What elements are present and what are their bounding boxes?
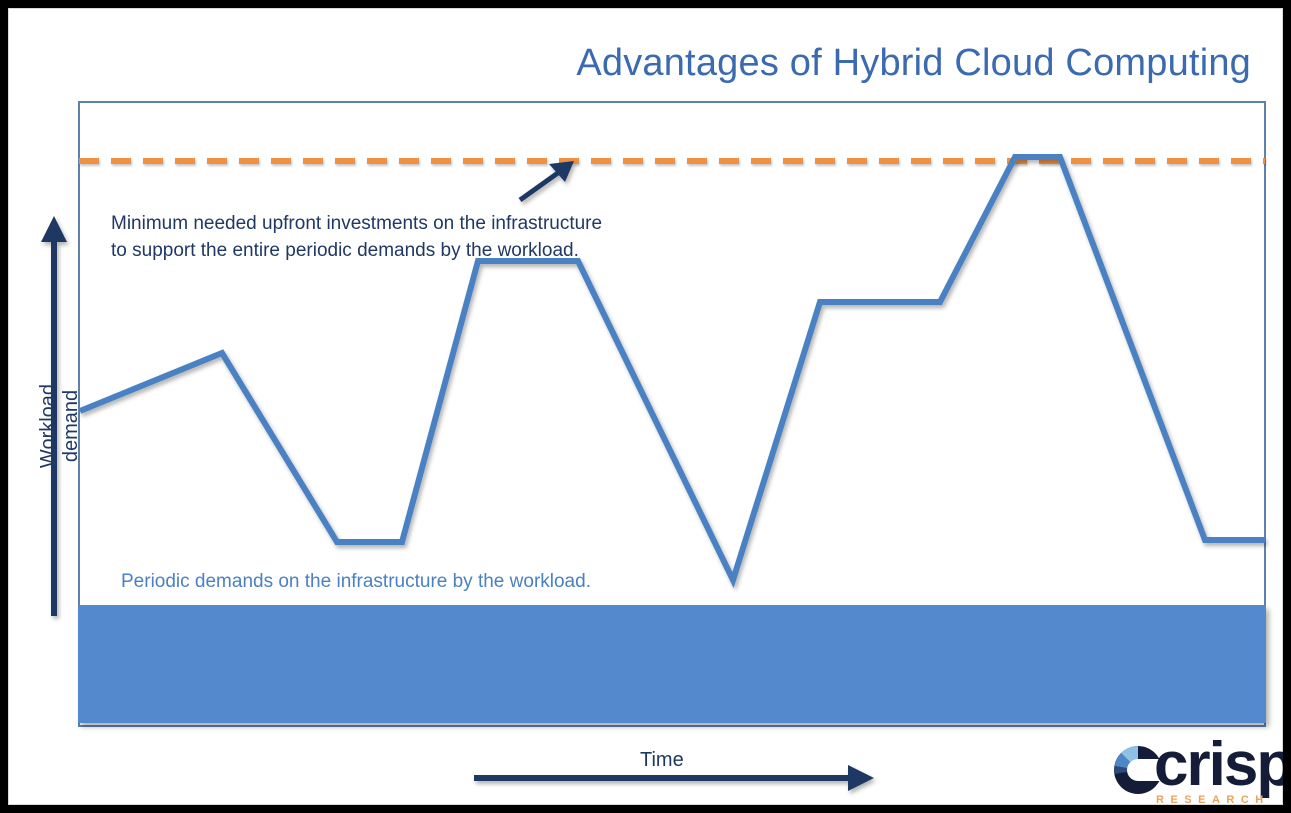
basic-need-band: Basic need for the infrastructure to sup… xyxy=(78,605,1266,723)
crisp-research-logo: crisp RESEARCH xyxy=(1110,740,1276,805)
upfront-investment-line-1: Minimum needed upfront investments on th… xyxy=(111,213,602,234)
page-title: Advantages of Hybrid Cloud Computing xyxy=(576,42,1251,85)
y-axis-label: Workload demand xyxy=(37,346,83,506)
logo-wordmark: crisp xyxy=(1154,734,1283,796)
slide-page: Advantages of Hybrid Cloud Computing xyxy=(8,8,1283,805)
periodic-demand-label: Periodic demands on the infrastructure b… xyxy=(121,571,591,593)
capacity-dashed-line xyxy=(79,158,1265,164)
logo-subtitle: RESEARCH xyxy=(1156,794,1270,805)
upfront-investment-line-2: to support the entire periodic demands b… xyxy=(111,240,579,261)
upfront-investment-label: Minimum needed upfront investments on th… xyxy=(111,210,602,264)
slide-frame: Advantages of Hybrid Cloud Computing xyxy=(0,0,1291,813)
x-axis-label: Time xyxy=(640,749,684,772)
